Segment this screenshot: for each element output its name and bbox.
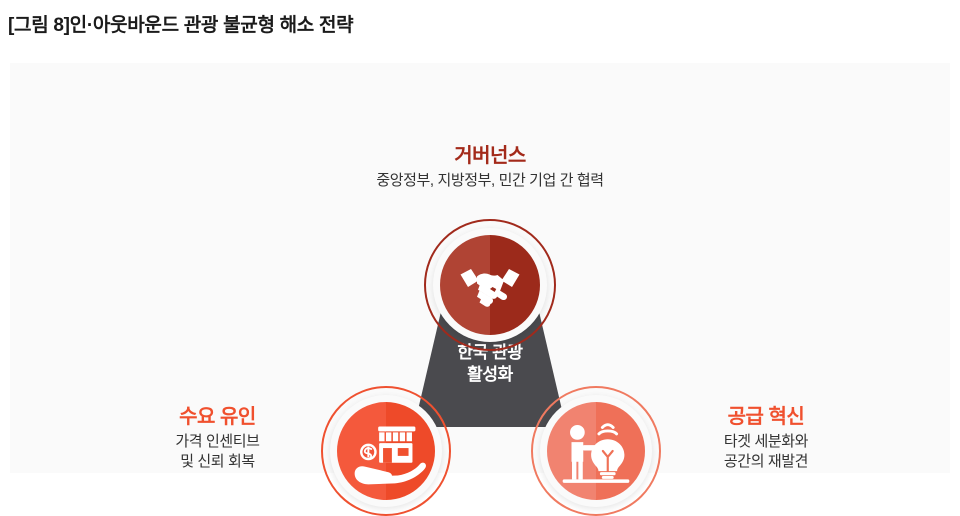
node-supply-description: 타겟 세분화와 공간의 재발견 — [666, 432, 866, 473]
node-demand[interactable] — [321, 386, 451, 516]
node-supply-heading: 공급 혁신 — [666, 400, 866, 429]
handshake-icon — [440, 235, 540, 335]
node-governance-description: 중앙정부, 지방정부, 민간 기업 간 협력 — [240, 171, 740, 191]
node-supply[interactable] — [531, 386, 661, 516]
node-demand-disc — [337, 402, 435, 500]
node-governance[interactable] — [424, 219, 556, 351]
text-governance: 거버넌스 중앙정부, 지방정부, 민간 기업 간 협력 — [240, 139, 740, 191]
node-governance-disc — [440, 235, 540, 335]
node-demand-heading: 수요 유인 — [120, 400, 315, 429]
figure-caption: [그림 8]인·아웃바운드 관광 불균형 해소 전략 — [8, 10, 353, 37]
node-governance-heading: 거버넌스 — [240, 139, 740, 168]
node-supply-disc — [547, 402, 645, 500]
diagram-panel: 한국 관광 활성화 — [10, 63, 950, 473]
hand-holding-shop-icon — [337, 402, 435, 500]
text-supply: 공급 혁신 타겟 세분화와 공간의 재발견 — [666, 400, 866, 473]
node-demand-description: 가격 인센티브 및 신뢰 회복 — [120, 432, 315, 473]
person-lightbulb-idea-icon — [547, 402, 645, 500]
text-demand: 수요 유인 가격 인센티브 및 신뢰 회복 — [120, 400, 315, 473]
